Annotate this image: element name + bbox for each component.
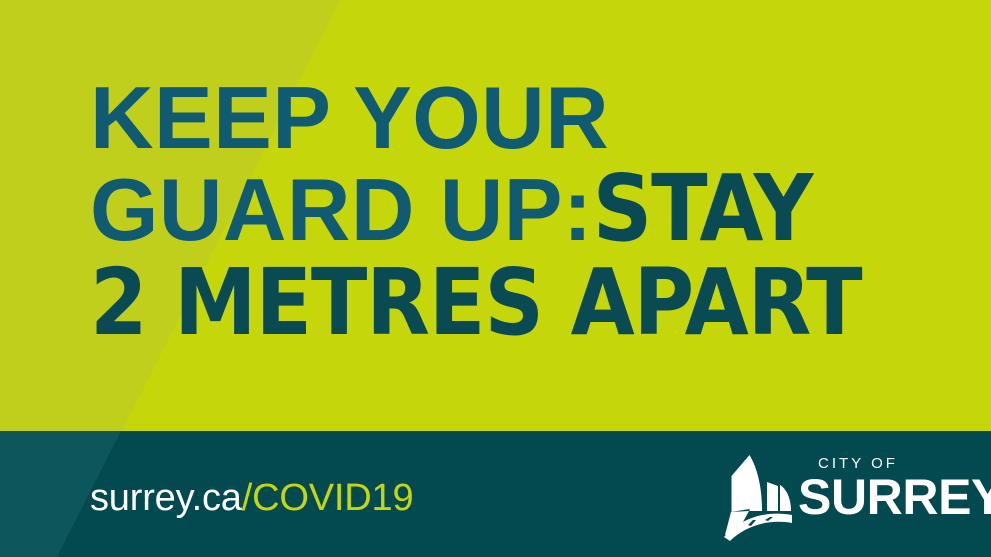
headline-line-2: GUARD UP:STAY bbox=[90, 165, 950, 253]
headline-line-1: KEEP YOUR bbox=[90, 76, 950, 160]
city-of-surrey-logo[interactable]: CITY OF SURREY bbox=[718, 449, 950, 543]
headline-line-2-light: GUARD UP: bbox=[90, 160, 593, 259]
url-domain: surrey.ca bbox=[90, 477, 242, 519]
logo-name: SURREY bbox=[798, 472, 991, 522]
covid19-distancing-poster: KEEP YOUR GUARD UP:STAY 2 METRES APART s… bbox=[0, 0, 991, 557]
headline-line-3: 2 METRES APART bbox=[90, 259, 950, 347]
surrey-sail-mark-icon bbox=[718, 449, 796, 543]
website-url[interactable]: surrey.ca/COVID19 bbox=[90, 477, 413, 520]
headline-line-2-dark: STAY bbox=[593, 155, 813, 262]
headline-block: KEEP YOUR GUARD UP:STAY 2 METRES APART bbox=[90, 76, 950, 347]
url-path: /COVID19 bbox=[242, 477, 414, 519]
surrey-wordmark: CITY OF SURREY bbox=[798, 455, 950, 537]
